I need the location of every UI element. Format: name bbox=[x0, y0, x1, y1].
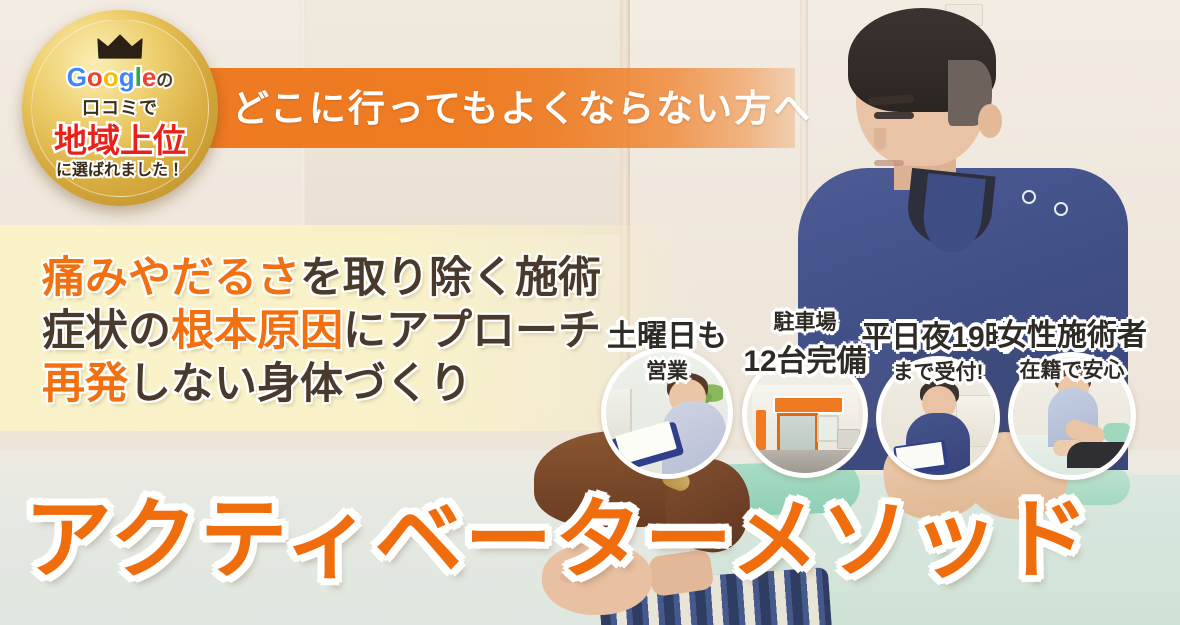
google-letter-e: e bbox=[142, 62, 156, 92]
feature-saturday-open: 土曜日も 営業 bbox=[601, 347, 733, 479]
feature-female-practitioner: 女性施術者 在籍で安心 bbox=[1008, 352, 1136, 480]
badge-suffix-no: の bbox=[156, 71, 173, 90]
headline-2-seg-3: にアプローチ bbox=[343, 307, 601, 355]
clinic-vertical-banner bbox=[756, 410, 765, 449]
feature-3-caption: 平日夜19時 まで受付! bbox=[861, 312, 1014, 386]
badge-rank-text: 地域上位 bbox=[22, 114, 218, 162]
google-letter-o1: o bbox=[87, 62, 103, 92]
feature-weeknight-hours: 平日夜19時 まで受付! bbox=[876, 356, 1000, 480]
scrub-snap-button-2 bbox=[1054, 202, 1068, 216]
headline-line-3: 再発しない身体づくり bbox=[42, 358, 642, 411]
feature-4-caption: 女性施術者 在籍で安心 bbox=[997, 310, 1147, 384]
google-wordmark: Googleの bbox=[22, 64, 218, 94]
feature-3-caption-line1: 平日夜19時 bbox=[861, 312, 1014, 356]
feature-4-bolster bbox=[1103, 423, 1131, 442]
feature-1-caption-line1: 土曜日も bbox=[607, 311, 727, 355]
google-letter-g: G bbox=[67, 62, 87, 92]
headline-1-seg-2: を取り除く施術 bbox=[300, 254, 601, 302]
practitioner-mouth bbox=[874, 160, 904, 166]
feature-4-patient-clothing bbox=[1067, 442, 1128, 468]
google-letter-l: l bbox=[135, 62, 142, 92]
headline-1-seg-1: 痛みやだるさ bbox=[42, 254, 300, 302]
feature-2-caption-line1: 駐車場 bbox=[743, 306, 866, 336]
headline-2-seg-2: 根本原因 bbox=[171, 307, 343, 355]
headline-2-seg-1: 症状の bbox=[42, 307, 171, 355]
feature-1-caption-line2: 営業 bbox=[607, 355, 727, 385]
google-review-badge: Googleの 口コミで 地域上位 に選ばれました！ bbox=[22, 10, 218, 206]
practitioner-nose bbox=[874, 128, 886, 150]
headline-line-1: 痛みやだるさを取り除く施術 bbox=[42, 252, 642, 305]
headline-3-seg-2: しない身体づくり bbox=[128, 360, 472, 408]
badge-selected-text: に選ばれました！ bbox=[22, 156, 218, 180]
feature-2-caption-line2: 12台完備 bbox=[743, 336, 866, 380]
air-conditioner-unit bbox=[837, 429, 860, 450]
feature-parking: 駐車場 12台完備 bbox=[742, 352, 868, 478]
top-strip-text: どこに行ってもよくならない方へ bbox=[232, 82, 792, 136]
feature-3-caption-line2: まで受付! bbox=[861, 356, 1014, 386]
feature-2-caption: 駐車場 12台完備 bbox=[743, 306, 866, 380]
practitioner-ear bbox=[978, 104, 1002, 138]
crown-icon bbox=[97, 34, 143, 60]
practitioner-eye bbox=[874, 112, 914, 119]
feature-1-caption: 土曜日も 営業 bbox=[607, 311, 727, 385]
scrub-snap-button-1 bbox=[1022, 190, 1036, 204]
headline-line-2: 症状の根本原因にアプローチ bbox=[42, 305, 642, 358]
banner-canvas: どこに行ってもよくならない方へ Googleの 口コミで 地域上位 に選ばれまし… bbox=[0, 0, 1180, 625]
feature-4-caption-line1: 女性施術者 bbox=[997, 310, 1147, 354]
main-title: アクティベーターメソッド bbox=[24, 492, 1174, 588]
headline-3-seg-1: 再発 bbox=[42, 360, 128, 408]
headline-block: 痛みやだるさを取り除く施術 症状の根本原因にアプローチ 再発しない身体づくり bbox=[42, 252, 642, 411]
google-letter-o2: o bbox=[103, 62, 119, 92]
clinic-window bbox=[817, 415, 840, 442]
feature-4-caption-line2: 在籍で安心 bbox=[997, 354, 1147, 384]
google-letter-g2: g bbox=[119, 62, 135, 92]
parking-ground bbox=[747, 450, 863, 473]
clinic-signboard bbox=[773, 396, 844, 414]
